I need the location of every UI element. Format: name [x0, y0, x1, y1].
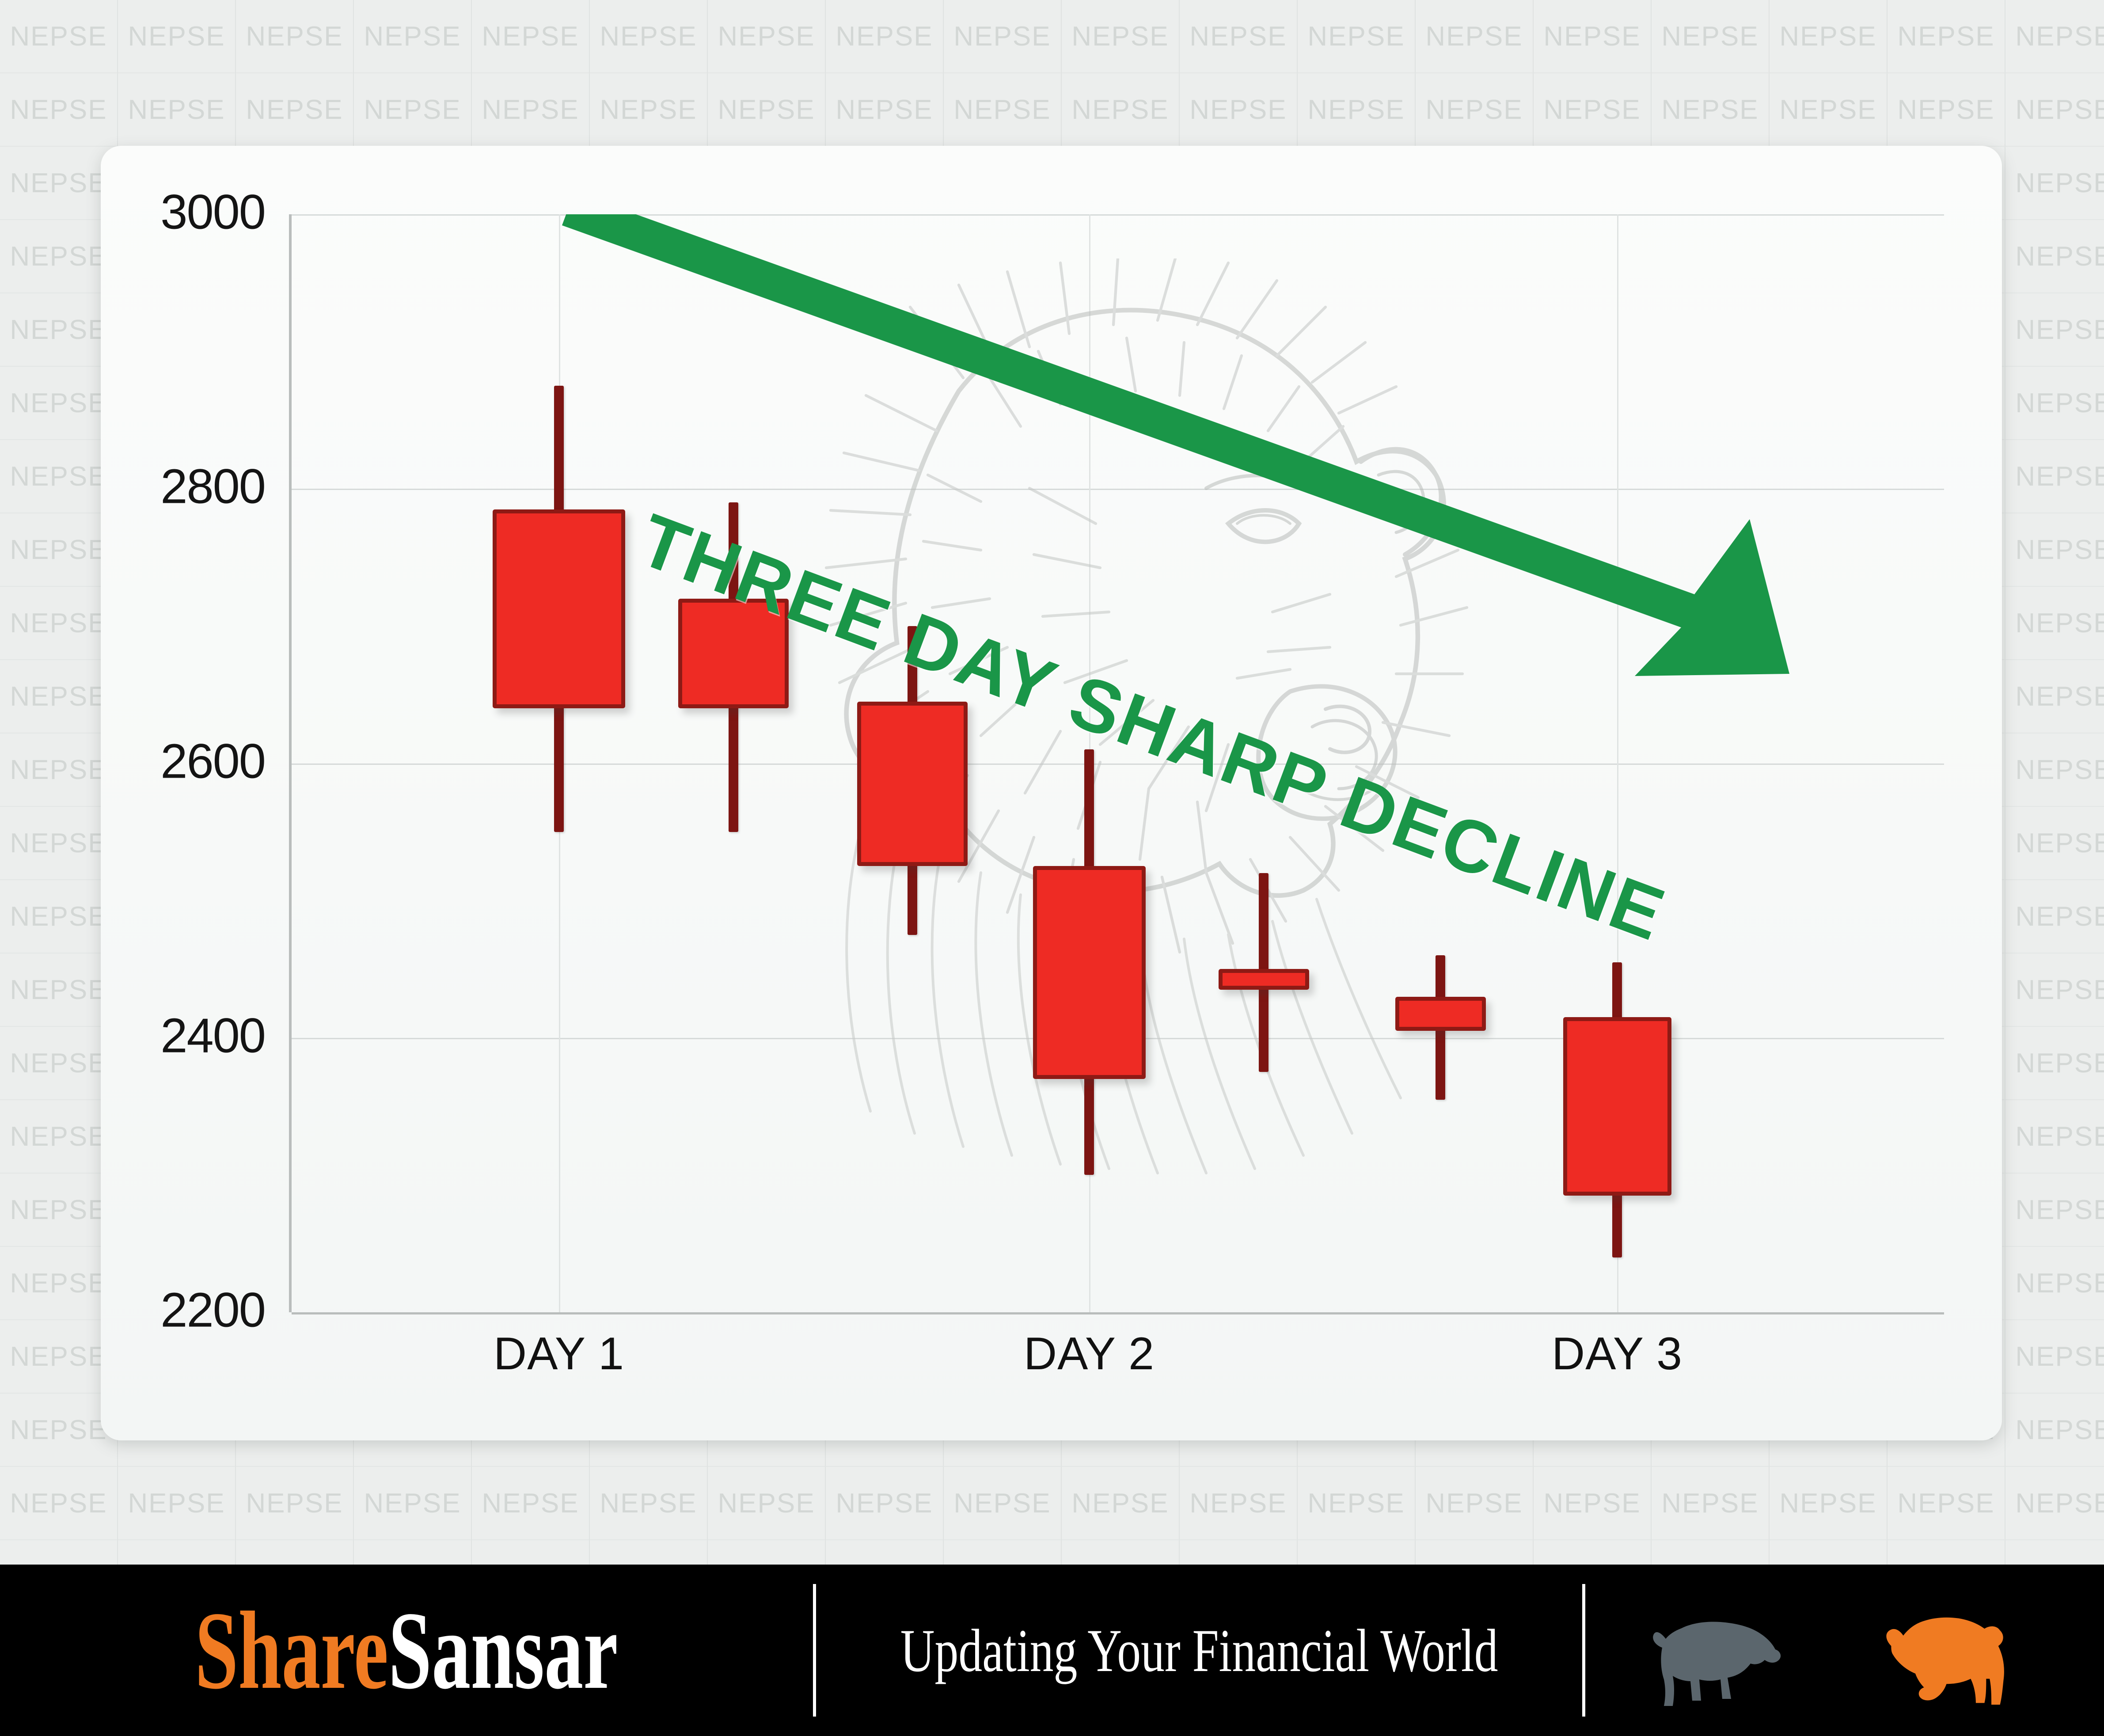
y-tick-label: 2800	[80, 459, 265, 515]
watermark-tile: NEPSE	[1888, 1467, 2005, 1540]
watermark-tile: NEPSE	[826, 73, 944, 147]
watermark-tile: NEPSE	[1888, 0, 2005, 73]
watermark-tile: NEPSE	[2005, 880, 2104, 953]
watermark-tile: NEPSE	[0, 73, 118, 147]
watermark-tile: NEPSE	[944, 0, 1062, 73]
watermark-tile: NEPSE	[0, 0, 118, 73]
watermark-tile: NEPSE	[826, 0, 944, 73]
watermark-tile: NEPSE	[472, 73, 590, 147]
watermark-tile: NEPSE	[2005, 73, 2104, 147]
watermark-tile: NEPSE	[1062, 1467, 1180, 1540]
watermark-tile: NEPSE	[708, 1467, 826, 1540]
watermark-tile: NEPSE	[354, 73, 472, 147]
watermark-tile: NEPSE	[1180, 0, 1298, 73]
watermark-tile: NEPSE	[0, 807, 118, 880]
watermark-tile: NEPSE	[0, 1467, 118, 1540]
watermark-tile: NEPSE	[1062, 0, 1180, 73]
watermark-tile: NEPSE	[236, 1467, 354, 1540]
watermark-tile: NEPSE	[2005, 367, 2104, 440]
watermark-tile: NEPSE	[0, 1174, 118, 1247]
watermark-tile: NEPSE	[708, 0, 826, 73]
bull-icon	[1639, 1584, 1834, 1717]
watermark-tile: NEPSE	[1062, 73, 1180, 147]
watermark-tile: NEPSE	[354, 0, 472, 73]
watermark-tile: NEPSE	[826, 1467, 944, 1540]
watermark-tile: NEPSE	[590, 73, 708, 147]
watermark-tile: NEPSE	[2005, 1247, 2104, 1320]
watermark-tile: NEPSE	[2005, 807, 2104, 880]
watermark-tile: NEPSE	[2005, 733, 2104, 807]
x-tick-label: DAY 3	[1552, 1328, 1682, 1380]
watermark-tile: NEPSE	[1180, 1467, 1298, 1540]
watermark-tile: NEPSE	[2005, 660, 2104, 733]
plot-area: THREE DAY SHARP DECLINE 3000280026002400…	[292, 214, 1944, 1312]
watermark-tile: NEPSE	[590, 1467, 708, 1540]
watermark-tile: NEPSE	[2005, 513, 2104, 587]
watermark-tile: NEPSE	[0, 1394, 118, 1467]
watermark-tile: NEPSE	[2005, 1467, 2104, 1540]
watermark-tile: NEPSE	[1416, 0, 1534, 73]
y-tick-label: 2400	[80, 1007, 265, 1064]
y-tick-label: 3000	[80, 184, 265, 240]
watermark-tile: NEPSE	[1534, 1467, 1652, 1540]
watermark-tile: NEPSE	[708, 73, 826, 147]
watermark-tile: NEPSE	[1652, 0, 1770, 73]
watermark-tile: NEPSE	[472, 1467, 590, 1540]
watermark-tile: NEPSE	[2005, 1320, 2104, 1394]
watermark-tile: NEPSE	[1770, 0, 1888, 73]
watermark-tile: NEPSE	[2005, 0, 2104, 73]
brand-logo[interactable]: ShareSansar	[0, 1595, 813, 1706]
tagline-container: Updating Your Financial World	[816, 1615, 1582, 1686]
watermark-tile: NEPSE	[1534, 73, 1652, 147]
watermark-tile: NEPSE	[0, 587, 118, 660]
watermark-tile: NEPSE	[236, 0, 354, 73]
x-tick-label: DAY 2	[1024, 1328, 1155, 1380]
footer-bar: ShareSansar Updating Your Financial Worl…	[0, 1565, 2104, 1736]
watermark-tile: NEPSE	[944, 1467, 1062, 1540]
y-tick-label: 2200	[80, 1282, 265, 1338]
watermark-tile: NEPSE	[118, 0, 236, 73]
brand-name-sansar: Sansar	[388, 1588, 618, 1712]
watermark-tile: NEPSE	[2005, 1027, 2104, 1100]
watermark-tile: NEPSE	[1416, 73, 1534, 147]
tagline-text: Updating Your Financial World	[900, 1615, 1498, 1686]
watermark-tile: NEPSE	[2005, 1394, 2104, 1467]
watermark-tile: NEPSE	[1298, 1467, 1416, 1540]
watermark-tile: NEPSE	[0, 880, 118, 953]
watermark-tile: NEPSE	[1298, 0, 1416, 73]
watermark-tile: NEPSE	[1652, 73, 1770, 147]
gridline	[292, 1312, 1944, 1314]
watermark-tile: NEPSE	[0, 660, 118, 733]
watermark-tile: NEPSE	[0, 293, 118, 367]
watermark-tile: NEPSE	[1770, 73, 1888, 147]
watermark-tile: NEPSE	[0, 367, 118, 440]
brand-name-share: Share	[195, 1588, 388, 1712]
watermark-tile: NEPSE	[944, 73, 1062, 147]
watermark-tile: NEPSE	[2005, 1174, 2104, 1247]
watermark-tile: NEPSE	[2005, 587, 2104, 660]
watermark-tile: NEPSE	[2005, 1100, 2104, 1174]
watermark-tile: NEPSE	[2005, 440, 2104, 513]
bull-bear-logo	[1585, 1584, 2104, 1717]
watermark-tile: NEPSE	[1770, 1467, 1888, 1540]
watermark-tile: NEPSE	[1534, 0, 1652, 73]
watermark-tile: NEPSE	[472, 0, 590, 73]
watermark-tile: NEPSE	[118, 1467, 236, 1540]
watermark-tile: NEPSE	[1298, 73, 1416, 147]
watermark-tile: NEPSE	[1180, 73, 1298, 147]
bear-icon	[1860, 1584, 2050, 1717]
chart-card: THREE DAY SHARP DECLINE 3000280026002400…	[101, 146, 2002, 1440]
watermark-tile: NEPSE	[1652, 1467, 1770, 1540]
watermark-tile: NEPSE	[236, 73, 354, 147]
watermark-tile: NEPSE	[2005, 147, 2104, 220]
watermark-tile: NEPSE	[0, 1100, 118, 1174]
watermark-tile: NEPSE	[1888, 73, 2005, 147]
watermark-tile: NEPSE	[1416, 1467, 1534, 1540]
watermark-tile: NEPSE	[2005, 293, 2104, 367]
watermark-tile: NEPSE	[0, 513, 118, 587]
watermark-tile: NEPSE	[354, 1467, 472, 1540]
x-tick-label: DAY 1	[494, 1328, 624, 1380]
watermark-tile: NEPSE	[2005, 220, 2104, 293]
watermark-tile: NEPSE	[590, 0, 708, 73]
y-axis-labels: 30002800260024002200	[292, 214, 1944, 1312]
watermark-tile: NEPSE	[118, 73, 236, 147]
divider-left	[813, 1584, 816, 1717]
watermark-tile: NEPSE	[2005, 953, 2104, 1027]
divider-right	[1582, 1584, 1585, 1717]
y-tick-label: 2600	[80, 733, 265, 789]
